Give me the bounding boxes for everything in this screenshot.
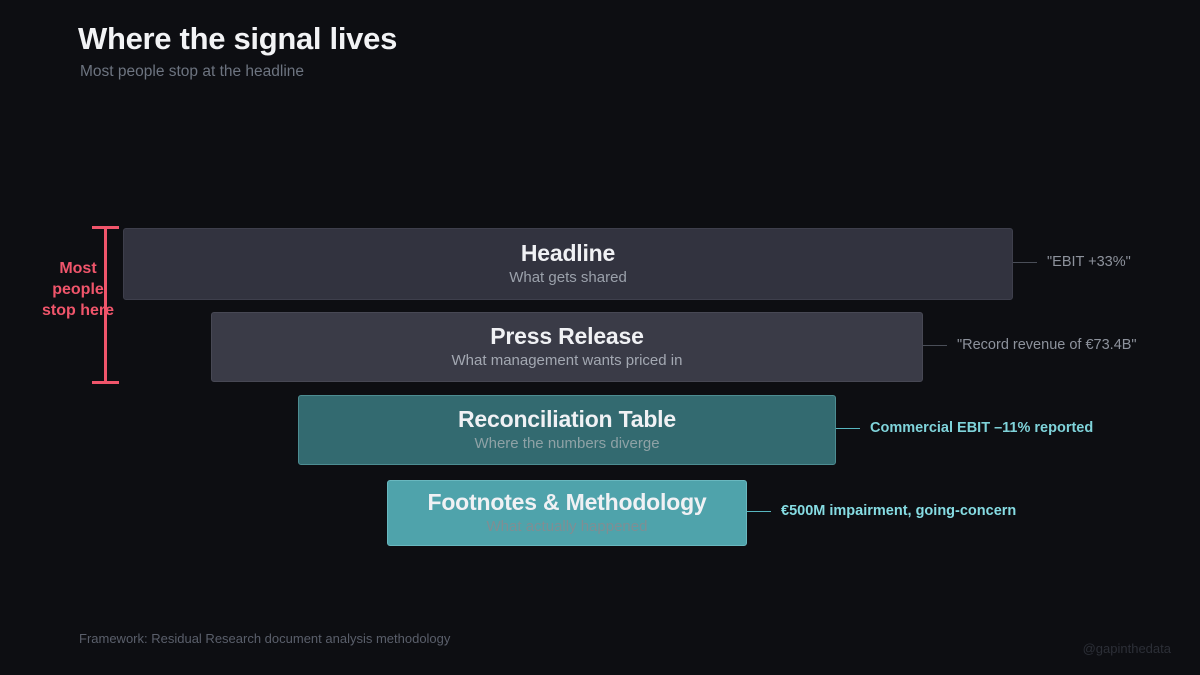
stage-sublabel: What gets shared — [509, 269, 627, 287]
leader-line-icon — [836, 428, 860, 429]
stage-annotation: "EBIT +33%" — [1013, 255, 1131, 270]
stage-sublabel: Where the numbers diverge — [474, 435, 659, 453]
stage-annotation: "Record revenue of €73.4B" — [923, 338, 1137, 353]
stage-sublabel: What management wants priced in — [452, 352, 683, 370]
funnel-stage-reconciliation-table: Reconciliation Table Where the numbers d… — [0, 395, 1200, 465]
stage-label: Footnotes & Methodology — [427, 490, 706, 515]
stage-bar[interactable]: Reconciliation Table Where the numbers d… — [298, 395, 836, 465]
stage-sublabel: What actually happened — [487, 518, 648, 536]
stage-annotation: Commercial EBIT –11% reported — [836, 421, 1093, 436]
stage-bar[interactable]: Press Release What management wants pric… — [211, 312, 923, 382]
leader-line-icon — [923, 345, 947, 346]
annotation-text: Commercial EBIT –11% reported — [870, 421, 1093, 436]
stage-label: Press Release — [490, 324, 643, 349]
footer-note: Framework: Residual Research document an… — [79, 631, 450, 646]
annotation-text: "EBIT +33%" — [1047, 255, 1131, 270]
watermark: @gapinthedata — [1083, 641, 1171, 656]
leader-line-icon — [747, 511, 771, 512]
stage-bar[interactable]: Headline What gets shared — [123, 228, 1013, 300]
stage-label: Headline — [521, 241, 615, 266]
annotation-text: €500M impairment, going-concern — [781, 504, 1016, 519]
stage-bar[interactable]: Footnotes & Methodology What actually ha… — [387, 480, 747, 546]
stage-annotation: €500M impairment, going-concern — [747, 504, 1016, 519]
funnel-stage-footnotes-methodology: Footnotes & Methodology What actually ha… — [0, 480, 1200, 546]
leader-line-icon — [1013, 262, 1037, 263]
funnel-stage-press-release: Press Release What management wants pric… — [0, 312, 1200, 382]
funnel-chart: Headline What gets shared "EBIT +33%" Pr… — [0, 0, 1200, 675]
annotation-text: "Record revenue of €73.4B" — [957, 338, 1137, 353]
funnel-stage-headline: Headline What gets shared "EBIT +33%" — [0, 228, 1200, 300]
stage-label: Reconciliation Table — [458, 407, 676, 432]
